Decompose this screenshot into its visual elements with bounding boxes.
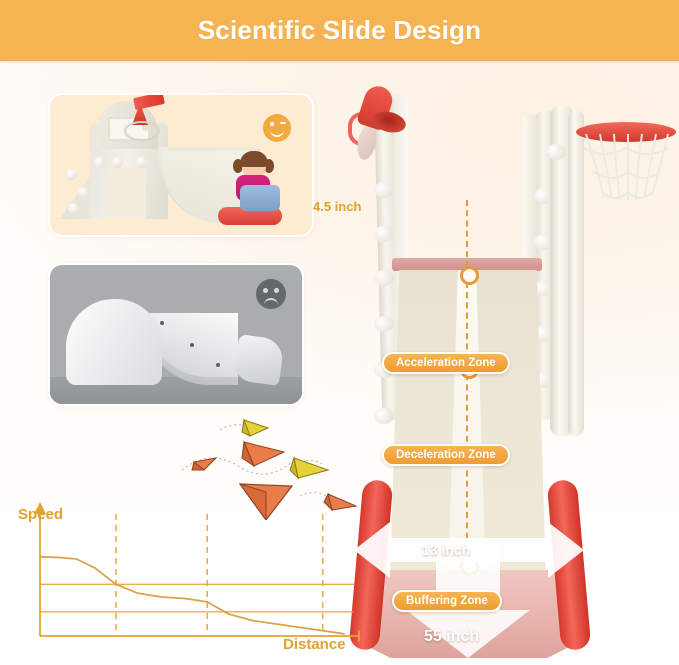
zone-pill-buffering: Buffering Zone [392, 590, 502, 612]
climb-knob [66, 169, 77, 180]
chart-plot-area [0, 498, 360, 665]
slide-door [106, 167, 146, 219]
climb-knob [112, 157, 123, 168]
good-slide-panel [48, 93, 314, 237]
paper-plane-yellow-right [290, 458, 328, 478]
child-hair [240, 151, 268, 167]
page-title: Scientific Slide Design [198, 15, 481, 46]
climb-knob [68, 203, 79, 214]
header-shadow [0, 61, 679, 65]
climb-knob [94, 157, 105, 168]
child-overalls [240, 185, 280, 211]
speed-distance-chart: Speed Distance [0, 498, 360, 665]
page-header: Scientific Slide Design [0, 0, 679, 61]
red-flag-icon [133, 93, 165, 110]
measurement-overlay: 13 inch 55 inch Acceleration Zone Decele… [340, 70, 679, 665]
paper-plane-yellow-top [242, 420, 268, 436]
motion-dot [160, 321, 164, 325]
height-callout-4-5-inch: 4.5 inch [313, 199, 361, 214]
length-label-55-inch: 55 inch [424, 628, 479, 646]
bad-slide-body [66, 299, 162, 385]
fallen-child [233, 334, 285, 386]
bad-slide-panel [48, 263, 304, 406]
climb-knob [78, 187, 89, 198]
motion-dot [216, 363, 220, 367]
zone-node [460, 266, 479, 285]
sad-face-icon [256, 279, 286, 309]
zone-pill-deceleration: Deceleration Zone [382, 444, 510, 466]
paper-plane-orange-left [192, 458, 216, 470]
paper-plane-orange-mid [242, 442, 284, 466]
winking-smiley-icon [263, 114, 291, 142]
small-hoop-icon [124, 121, 160, 141]
motion-dot [190, 343, 194, 347]
width-label-13-inch: 13 inch [422, 542, 470, 558]
zone-pill-acceleration: Acceleration Zone [382, 352, 510, 374]
climb-knob [136, 157, 147, 168]
